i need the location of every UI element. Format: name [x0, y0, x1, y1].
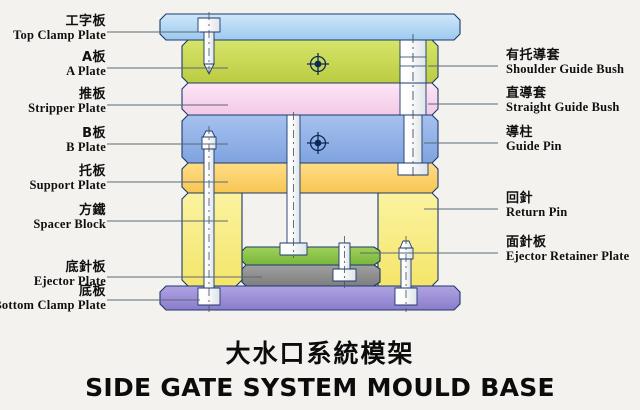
label-bottom-clamp-plate-cn: 底板: [0, 285, 106, 299]
label-spacer-block: 方鐵 Spacer Block: [33, 204, 106, 232]
title-block: 大水口系統模架 SIDE GATE SYSTEM MOULD BASE: [0, 334, 640, 402]
label-bottom-clamp-plate-en: Bottom Clamp Plate: [0, 299, 106, 313]
label-guide-pin-cn: 導柱: [506, 126, 562, 140]
label-top-clamp-plate-en: Top Clamp Plate: [13, 29, 106, 43]
label-ejector-plate-cn: 底針板: [34, 261, 106, 275]
title-english: SIDE GATE SYSTEM MOULD BASE: [0, 373, 640, 402]
label-ejector-retainer-plate-en: Ejector Retainer Plate: [506, 250, 629, 264]
label-straight-guide-bush: 直導套 Straight Guide Bush: [506, 87, 620, 115]
plate-ejector-plate: [242, 265, 380, 286]
label-ejector-retainer-plate-cn: 面針板: [506, 236, 629, 250]
label-stripper-plate-en: Stripper Plate: [28, 102, 106, 116]
diagram-stage: 工字板 Top Clamp Plate A板 A Plate 推板 Stripp…: [0, 0, 640, 410]
label-top-clamp-plate-cn: 工字板: [13, 15, 106, 29]
label-guide-pin-en: Guide Pin: [506, 140, 562, 154]
label-support-plate-en: Support Plate: [29, 179, 106, 193]
label-b-plate-cn: B板: [66, 127, 106, 141]
label-straight-guide-bush-cn: 直導套: [506, 87, 620, 101]
plate-ejector-retainer-plate: [242, 247, 380, 265]
label-return-pin-cn: 回針: [506, 192, 567, 206]
label-spacer-block-en: Spacer Block: [33, 218, 106, 232]
label-shoulder-guide-bush: 有托導套 Shoulder Guide Bush: [506, 49, 624, 77]
label-shoulder-guide-bush-cn: 有托導套: [506, 49, 624, 63]
label-return-pin-en: Return Pin: [506, 206, 567, 220]
label-support-plate-cn: 托板: [29, 165, 106, 179]
label-spacer-block-cn: 方鐵: [33, 204, 106, 218]
label-a-plate: A板 A Plate: [66, 51, 106, 79]
label-top-clamp-plate: 工字板 Top Clamp Plate: [13, 15, 106, 43]
label-ejector-retainer-plate: 面針板 Ejector Retainer Plate: [506, 236, 629, 264]
label-a-plate-cn: A板: [66, 51, 106, 65]
label-a-plate-en: A Plate: [66, 65, 106, 79]
label-straight-guide-bush-en: Straight Guide Bush: [506, 101, 620, 115]
plate-b-plate: [182, 115, 438, 163]
label-bottom-clamp-plate: 底板 Bottom Clamp Plate: [0, 285, 106, 313]
label-guide-pin: 導柱 Guide Pin: [506, 126, 562, 154]
label-shoulder-guide-bush-en: Shoulder Guide Bush: [506, 63, 624, 77]
label-stripper-plate: 推板 Stripper Plate: [28, 88, 106, 116]
label-stripper-plate-cn: 推板: [28, 88, 106, 102]
label-support-plate: 托板 Support Plate: [29, 165, 106, 193]
label-return-pin: 回針 Return Pin: [506, 192, 567, 220]
label-b-plate: B板 B Plate: [66, 127, 106, 155]
label-b-plate-en: B Plate: [66, 141, 106, 155]
title-chinese: 大水口系統模架: [0, 334, 640, 370]
